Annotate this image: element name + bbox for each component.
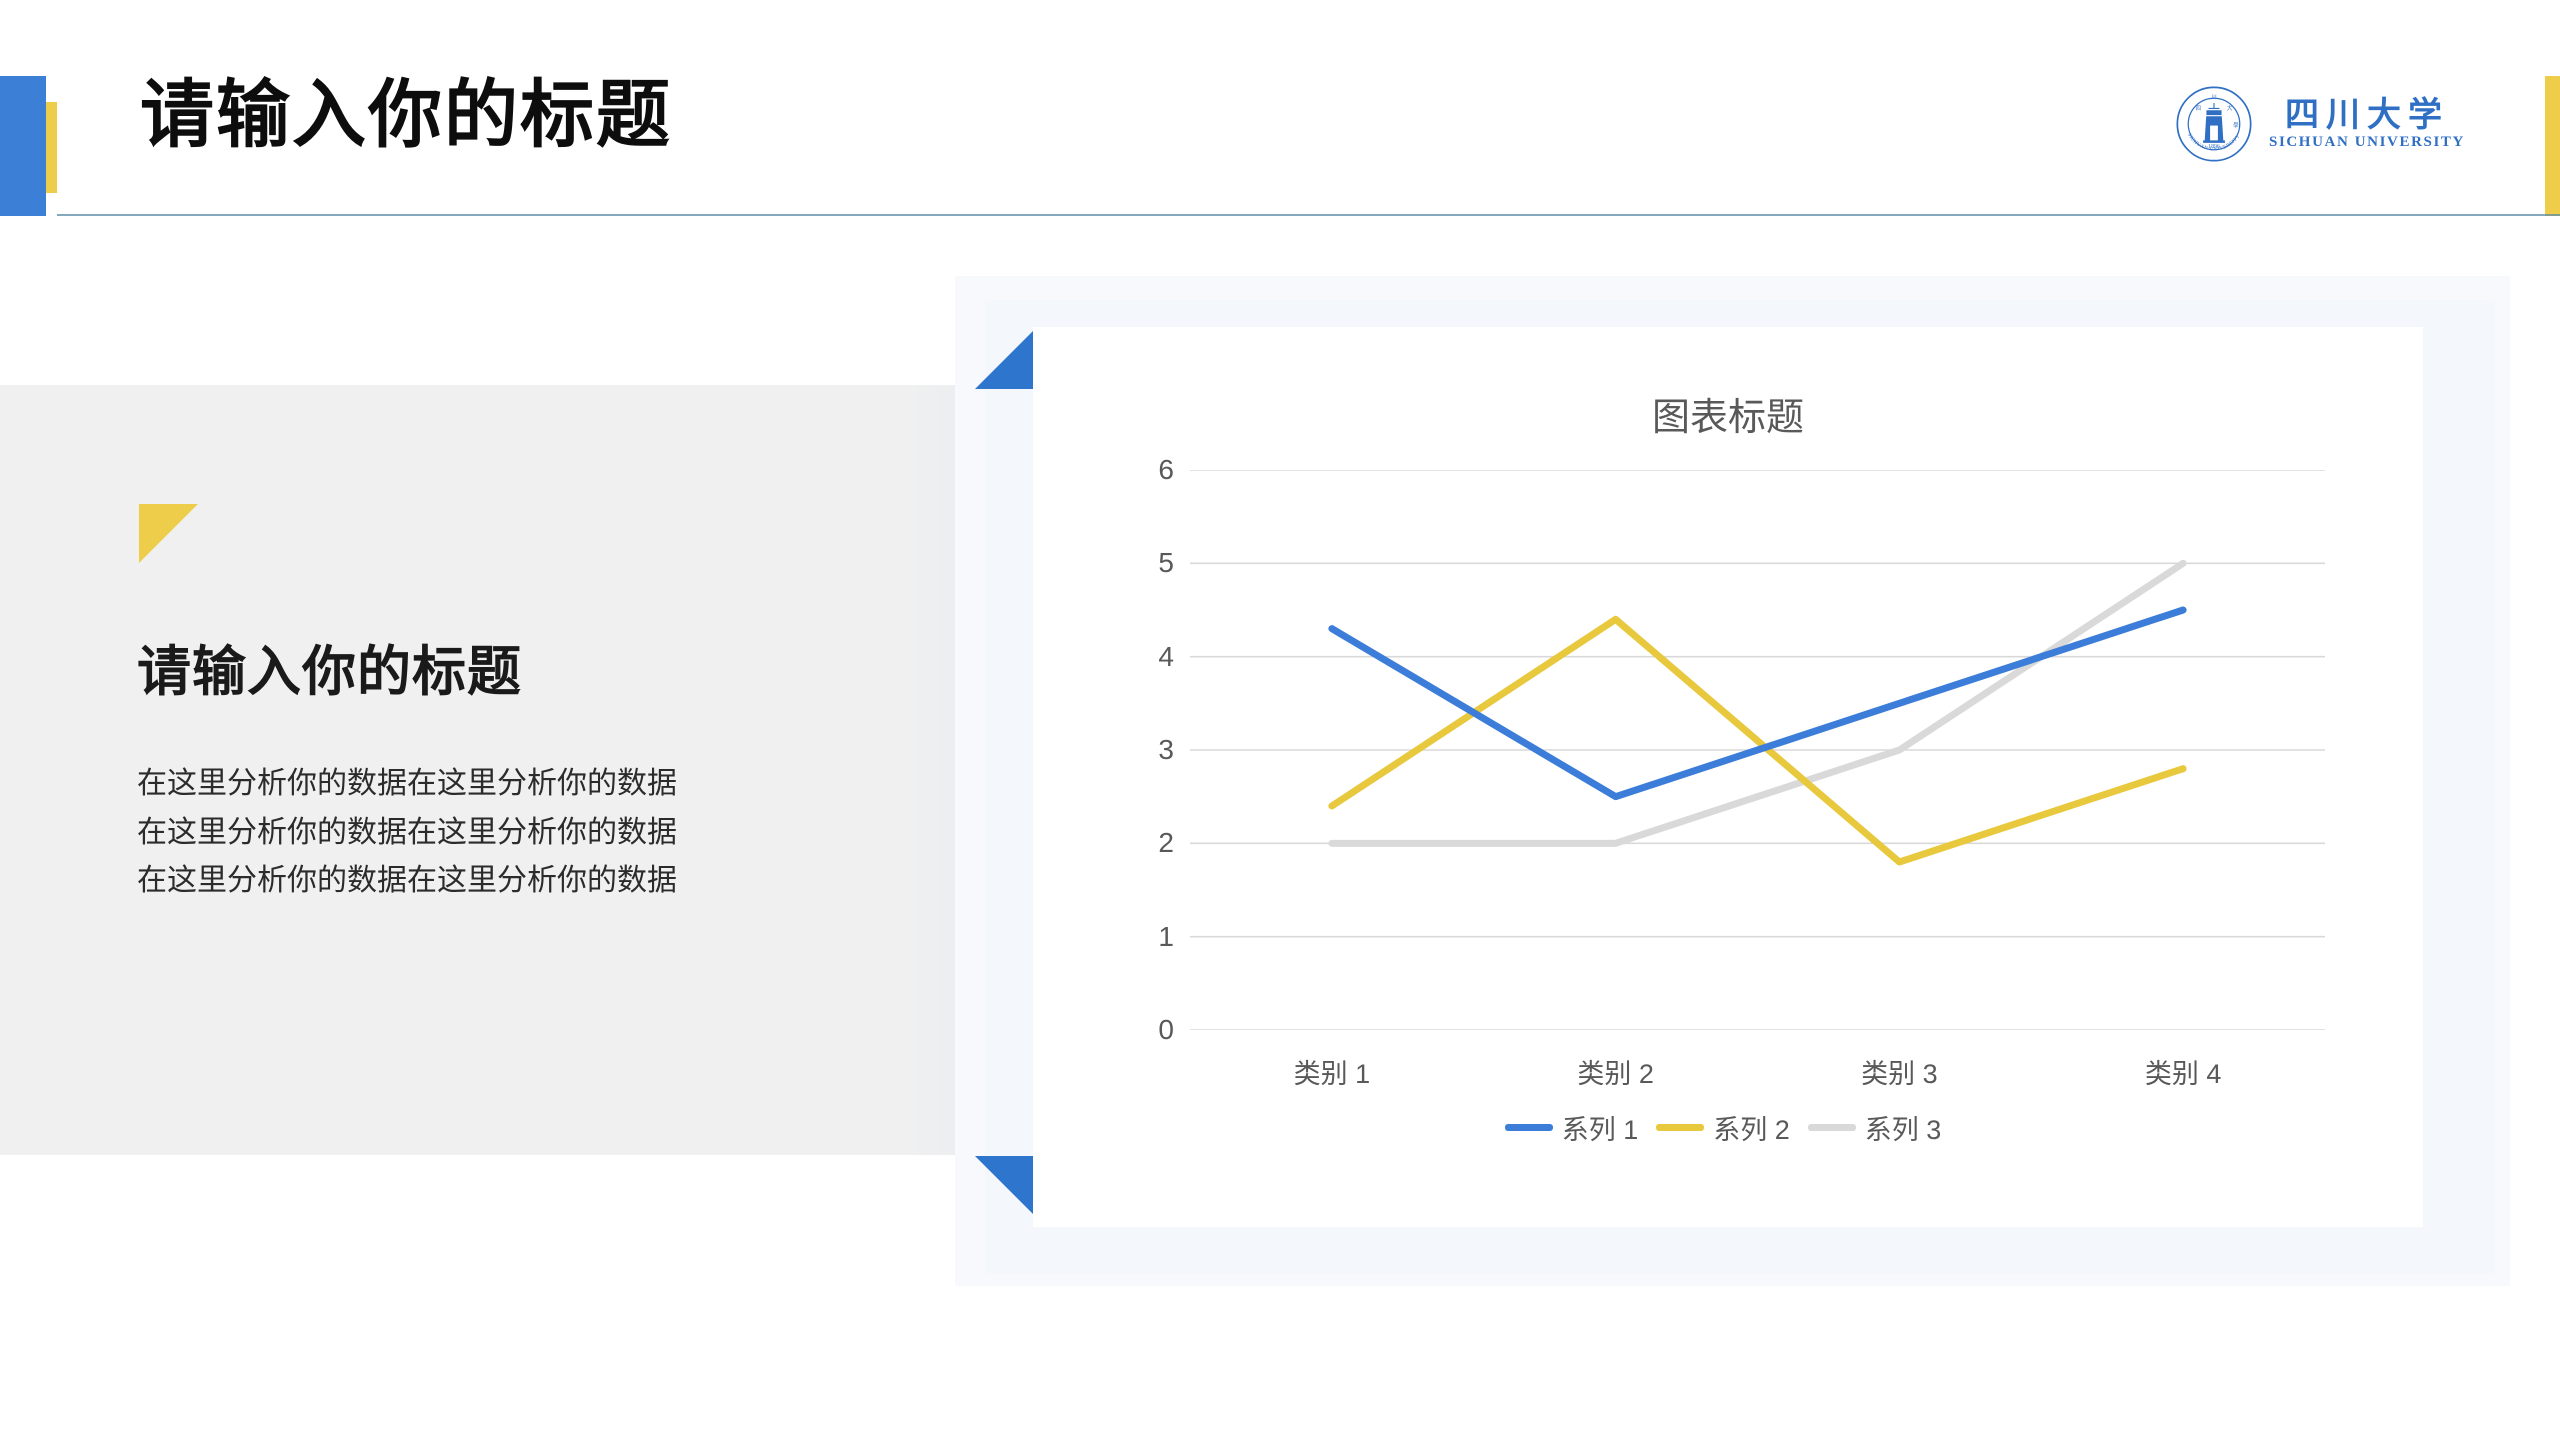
header-yellow-accent-bar: [46, 102, 57, 193]
chart-legend: 系列 1系列 2系列 3: [1033, 1108, 2423, 1147]
legend-label: 系列 2: [1713, 1108, 1790, 1147]
legend-label: 系列 1: [1562, 1108, 1639, 1147]
logo-wordmark: 四川大学 SICHUAN UNIVERSITY: [2269, 99, 2465, 150]
header-divider: [57, 214, 2560, 216]
line-chart-svg: [1190, 470, 2325, 1030]
page-title: 请输入你的标题: [140, 74, 672, 155]
svg-text:川: 川: [2211, 95, 2216, 101]
panel-body-text: 在这里分析你的数据在这里分析你的数据 在这里分析你的数据在这里分析你的数据 在这…: [137, 760, 927, 906]
logo-name-cn: 四川大学: [2285, 99, 2449, 133]
x-axis-tick-label: 类别 3: [1861, 1052, 1938, 1091]
x-axis-tick-label: 类别 1: [1294, 1052, 1371, 1091]
sichuan-university-seal-icon: 1896 四 川 大 學 SICHUAN UNIVERSITY: [2175, 85, 2253, 163]
legend-item[interactable]: 系列 2: [1656, 1108, 1790, 1147]
panel-title: 请输入你的标题: [137, 627, 522, 706]
logo-name-en: SICHUAN UNIVERSITY: [2269, 135, 2465, 150]
x-axis-tick-label: 类别 2: [1577, 1052, 1654, 1091]
y-axis-tick-label: 1: [1130, 921, 1174, 953]
header-blue-accent-bar: [0, 76, 46, 216]
blue-triangle-marker-bottom-icon: [975, 1156, 1033, 1214]
chart-series-line: [1332, 619, 2183, 862]
legend-color-swatch: [1656, 1124, 1704, 1131]
svg-text:學: 學: [2233, 121, 2239, 129]
chart-title: 图表标题: [1033, 386, 2423, 441]
legend-item[interactable]: 系列 1: [1505, 1108, 1639, 1147]
yellow-triangle-marker-icon: [139, 504, 198, 563]
y-axis-tick-label: 4: [1130, 641, 1174, 673]
chart-series-line: [1332, 610, 2183, 797]
y-axis-tick-label: 5: [1130, 547, 1174, 579]
panel-body-line: 在这里分析你的数据在这里分析你的数据: [137, 760, 927, 809]
svg-text:四: 四: [2196, 105, 2201, 112]
header-right-yellow-accent-bar: [2545, 76, 2560, 216]
y-axis-tick-label: 6: [1130, 454, 1174, 486]
legend-label: 系列 3: [1865, 1108, 1942, 1147]
legend-color-swatch: [1808, 1124, 1856, 1131]
y-axis-tick-label: 0: [1130, 1014, 1174, 1046]
panel-body-line: 在这里分析你的数据在这里分析你的数据: [137, 857, 927, 906]
chart-plot-area: [1190, 470, 2325, 1030]
panel-body-line: 在这里分析你的数据在这里分析你的数据: [137, 809, 927, 858]
y-axis-tick-label: 2: [1130, 827, 1174, 859]
university-logo: 1896 四 川 大 學 SICHUAN UNIVERSITY 四川大学 SIC…: [2175, 85, 2465, 163]
y-axis-tick-label: 3: [1130, 734, 1174, 766]
blue-triangle-marker-top-icon: [975, 331, 1033, 389]
slide-root: 请输入你的标题 1896 四 川 大 學 SICHUAN UNIVERSI: [0, 0, 2560, 1440]
x-axis-tick-label: 类别 4: [2145, 1052, 2222, 1091]
legend-item[interactable]: 系列 3: [1808, 1108, 1942, 1147]
legend-color-swatch: [1505, 1124, 1553, 1131]
